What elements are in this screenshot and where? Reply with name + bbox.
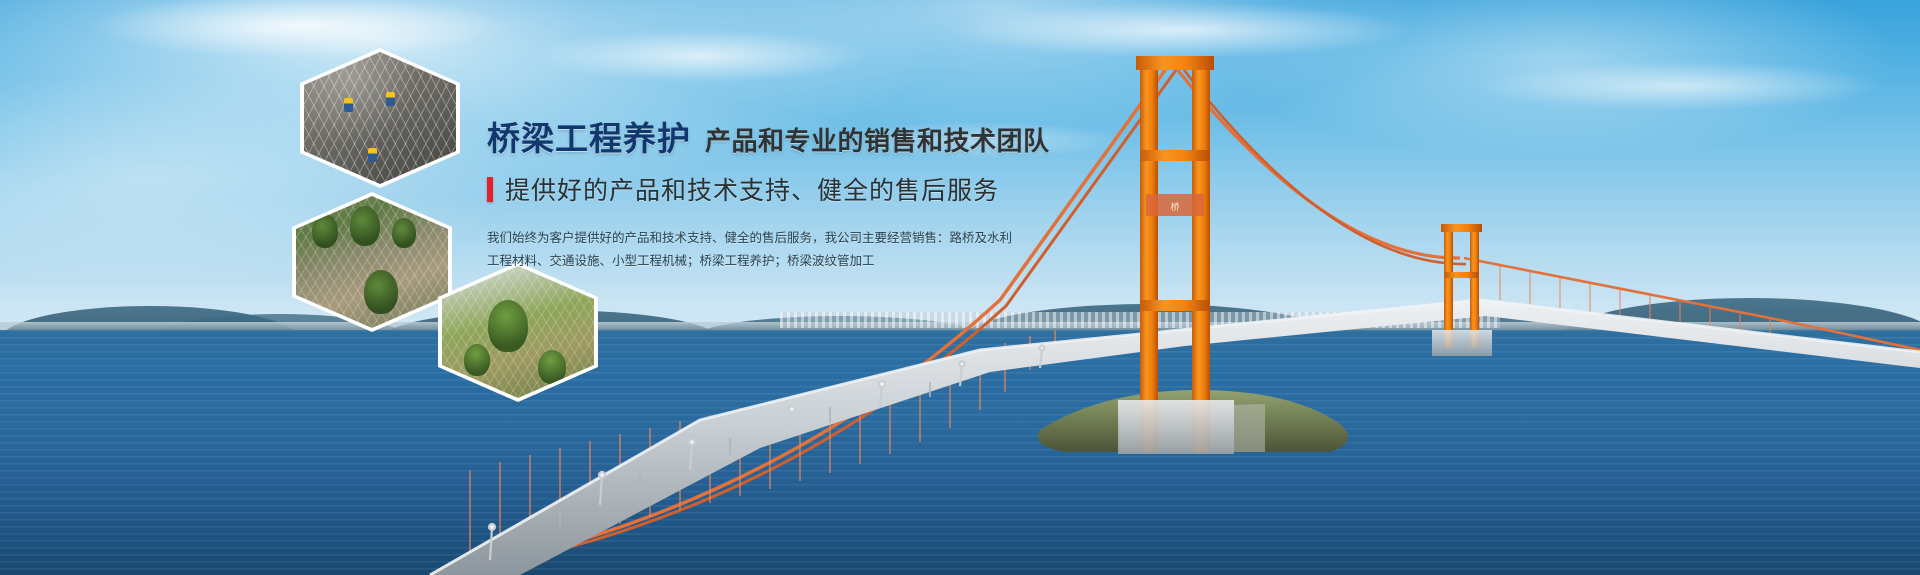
banner-body: 我们始终为客户提供好的产品和技术支持、健全的售后服务，我公司主要经营销售：路桥及… [487, 227, 1107, 273]
banner-subheadline: 提供好的产品和技术支持、健全的售后服务 [487, 171, 1107, 207]
suspension-bridge: 桥 [0, 0, 1920, 575]
bridge-far-tower [1441, 224, 1482, 348]
rope-access-slope-netting-photo [304, 52, 456, 184]
accent-bar-icon [487, 177, 493, 202]
thumbnail-hillside-mesh-protection[interactable] [292, 192, 452, 332]
banner-copy: 桥梁工程养护 产品和专业的销售和技术团队 提供好的产品和技术支持、健全的售后服务… [487, 122, 1107, 273]
thumbnail-vegetated-slope-mesh[interactable] [438, 262, 598, 402]
banner-headline: 桥梁工程养护 产品和专业的销售和技术团队 [487, 122, 1107, 155]
hillside-mesh-protection-photo [296, 196, 448, 328]
body-line-1: 我们始终为客户提供好的产品和技术支持、健全的售后服务，我公司主要经营销售：路桥及… [487, 227, 1107, 250]
svg-text:桥: 桥 [1170, 201, 1179, 212]
body-line-2: 工程材料、交通设施、小型工程机械；桥梁工程养护；桥梁波纹管加工 [487, 250, 1107, 273]
vegetated-slope-mesh-photo [442, 266, 594, 398]
headline-primary: 桥梁工程养护 [487, 122, 691, 155]
thumbnail-rope-access-slope-netting[interactable] [300, 48, 460, 188]
subheadline-text: 提供好的产品和技术支持、健全的售后服务 [505, 171, 999, 207]
hero-banner: 桥 [0, 0, 1920, 575]
headline-secondary: 产品和专业的销售和技术团队 [705, 128, 1050, 154]
